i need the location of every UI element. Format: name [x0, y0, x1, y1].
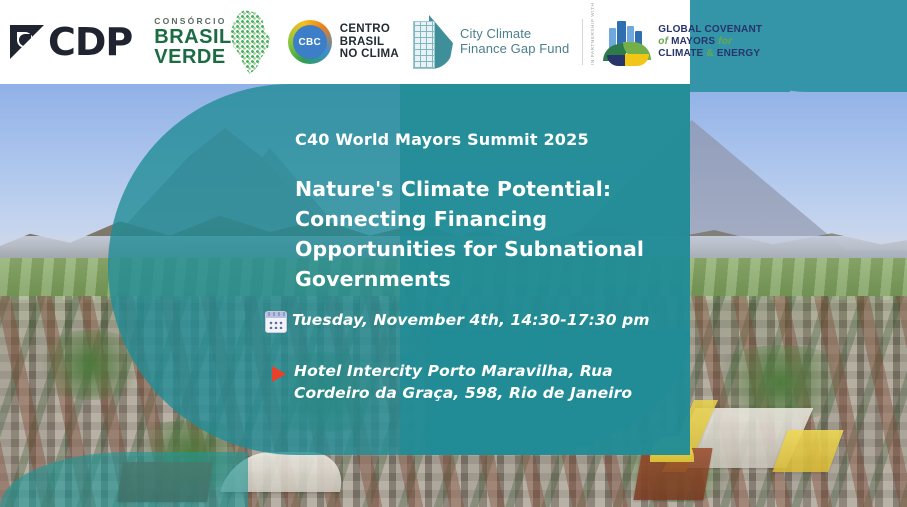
gcom-of: of	[658, 36, 668, 47]
gcom-for: for	[718, 36, 732, 47]
gap-fund-line-2: Finance Gap Fund	[460, 42, 569, 57]
cbc-badge-label: CBC	[293, 25, 327, 59]
cbc-line-3: NO CLIMA	[340, 48, 399, 61]
gcom-line-3: CLIMATE & ENERGY	[658, 48, 762, 60]
event-date-row: Tuesday, November 4th, 14:30-17:30 pm	[265, 310, 685, 333]
partnership-note: IN PARTNERSHIP WITH	[590, 19, 595, 65]
calendar-icon	[265, 311, 287, 333]
gcom-mayors: MAYORS	[671, 36, 715, 47]
cdp-wordmark: CDP	[48, 23, 132, 61]
gap-fund-text: City Climate Finance Gap Fund	[460, 27, 569, 57]
gcom-climate: CLIMATE	[658, 48, 703, 59]
event-kicker: C40 World Mayors Summit 2025	[295, 130, 695, 149]
event-location-text: Hotel Intercity Porto Maravilha, Rua Cor…	[294, 360, 672, 405]
consorcio-line-3: VERDE	[154, 47, 231, 67]
event-location-row: Hotel Intercity Porto Maravilha, Rua Cor…	[272, 360, 672, 405]
leaf-navy	[607, 55, 627, 66]
gcom-text: GLOBAL COVENANT of MAYORS for CLIMATE & …	[658, 24, 762, 60]
event-banner: CDP CONSÓRCIO BRASIL VERDE CBC CENTRO BR…	[0, 0, 907, 507]
event-title: Nature's Climate Potential: Connecting F…	[295, 175, 695, 295]
leaf-yellow	[625, 54, 649, 66]
city-leaves-icon	[601, 18, 651, 66]
calendar-rings	[268, 311, 286, 316]
cbc-text: CENTRO BRASIL NO CLIMA	[340, 23, 399, 62]
cbc-line-1: CENTRO	[340, 23, 399, 36]
logo-divider	[582, 19, 583, 65]
building-grid-shape	[413, 21, 435, 69]
consorcio-brasil-verde-logo[interactable]: CONSÓRCIO BRASIL VERDE	[154, 10, 271, 74]
gcom-line-2: of MAYORS for	[658, 36, 762, 48]
consorcio-line-2: BRASIL	[154, 27, 231, 47]
cbc-line-2: BRASIL	[340, 36, 399, 49]
gcom-line-1: GLOBAL COVENANT	[658, 24, 762, 36]
leaf-triangle-icon	[10, 25, 44, 59]
cdp-logo[interactable]: CDP	[10, 23, 132, 61]
gcom-ampersand: &	[706, 48, 713, 59]
brazil-map-dots-icon	[226, 10, 272, 74]
consorcio-text: CONSÓRCIO BRASIL VERDE	[154, 17, 231, 67]
headline-block: C40 World Mayors Summit 2025 Nature's Cl…	[295, 130, 695, 295]
global-covenant-of-mayors-logo[interactable]: GLOBAL COVENANT of MAYORS for CLIMATE & …	[601, 18, 762, 66]
consorcio-line-1: CONSÓRCIO	[154, 17, 231, 26]
event-date-text: Tuesday, November 4th, 14:30-17:30 pm	[292, 310, 650, 330]
centro-brasil-no-clima-logo[interactable]: CBC CENTRO BRASIL NO CLIMA	[288, 20, 399, 64]
gcom-energy: ENERGY	[717, 48, 760, 59]
building-leaf-icon	[413, 15, 453, 69]
cbc-circle-icon: CBC	[288, 20, 332, 64]
city-climate-finance-gap-fund-logo[interactable]: City Climate Finance Gap Fund	[413, 15, 569, 69]
partner-logo-bar: CDP CONSÓRCIO BRASIL VERDE CBC CENTRO BR…	[0, 0, 690, 84]
map-pin-icon	[272, 366, 286, 382]
gap-fund-line-1: City Climate	[460, 27, 569, 42]
